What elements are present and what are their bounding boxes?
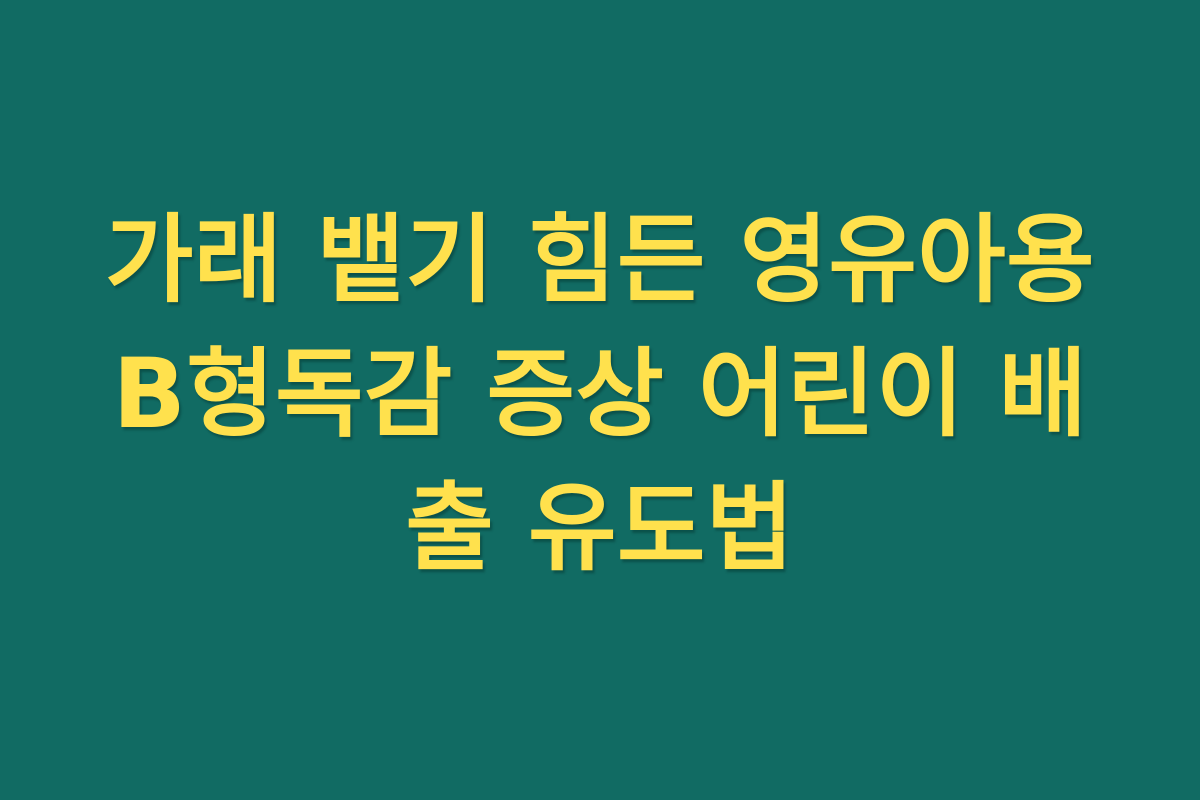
title-card: 가래 뱉기 힘든 영유아용 B형독감 증상 어린이 배 출 유도법: [0, 0, 1200, 800]
title-line-3: 출 유도법: [80, 461, 1120, 595]
title-line-2: B형독감 증상 어린이 배: [80, 327, 1120, 461]
page-title: 가래 뱉기 힘든 영유아용 B형독감 증상 어린이 배 출 유도법: [80, 193, 1120, 595]
title-line-1: 가래 뱉기 힘든 영유아용: [80, 193, 1120, 327]
